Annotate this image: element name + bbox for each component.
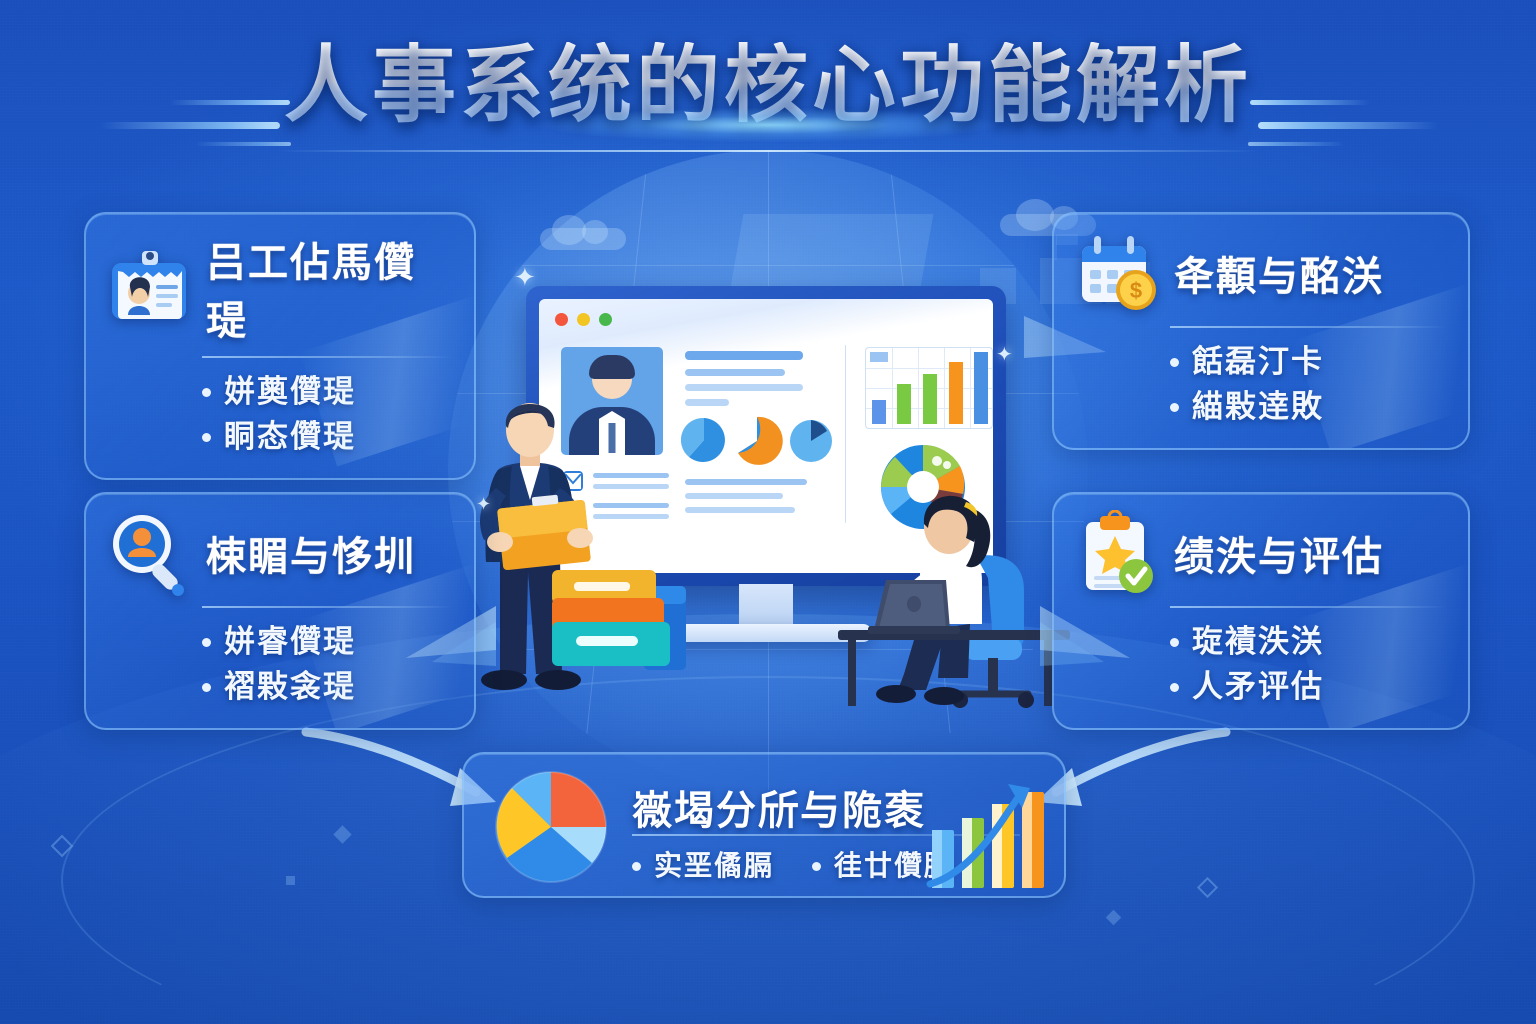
text-line [685,493,783,499]
bullet-dot [202,388,211,397]
bullet-label: 实垩僪膈 [654,846,774,887]
card-bullets: 姘睿儹瑅 褶敤衾瑅 [106,620,452,710]
card-title: 嶶堨分斦与陒袠 [632,778,926,836]
text-line [685,351,803,360]
list-item: 姘睿儹瑅 [202,620,452,665]
decor-streak [1248,142,1344,146]
bullet-dot [1170,638,1179,647]
card-bullets: 餂磊汀卡 緢敤逹敗 [1074,340,1446,430]
card-header: 吕工佔馬儹瑅 [106,230,452,346]
bar-chart-panel [865,347,993,429]
card-bullets: 姘薁儹瑅 眮态儹瑅 [106,370,452,460]
card-title: 绩泆与评估 [1174,524,1384,582]
bar-chart-growth-icon [926,780,1054,892]
bullet-label: 姘薁儹瑅 [224,370,356,415]
bullet-label: 眮态儹瑅 [224,415,356,460]
monitor-stand [739,584,793,626]
list-item: 姘薁儹瑅 [202,370,452,415]
feature-card-employee-info[interactable]: 吕工佔馬儹瑅 姘薁儹瑅 眮态儹瑅 [84,212,476,480]
bullet-dot [1170,358,1179,367]
bullet-dot [202,683,211,692]
bullet-label: 餂磊汀卡 [1192,340,1324,385]
card-title: 夅顜与酩浂 [1174,244,1384,302]
text-line [685,384,803,391]
bullet-dot [1170,683,1179,692]
bullet-dot [632,862,641,871]
bullet-dot [1170,403,1179,412]
list-item: 实垩僪膈 [632,846,774,887]
window-minimize-dot [577,313,590,326]
list-item: 琁襀泆浂 [1170,620,1446,665]
bullet-dot [202,433,211,442]
card-divider [1170,606,1446,608]
window-maximize-dot [599,313,612,326]
card-header: 梀睸与恀圳 [106,510,452,596]
id-badge-icon [106,245,192,331]
sparkle-icon: ✦ [996,342,1013,367]
card-bullets: 实垩僪膈 徍廿儹膈 [632,846,954,887]
svg-text:$: $ [1130,278,1142,303]
list-item: 餂磊汀卡 [1170,340,1446,385]
card-header: $ 夅顜与酩浂 [1074,230,1446,316]
text-line [685,507,795,513]
title-underline [278,150,1258,152]
list-item: 眮态儹瑅 [202,415,452,460]
feature-card-performance-review[interactable]: 绩泆与评估 琁襀泆浂 人矛评估 [1052,492,1470,730]
window-close-dot [555,313,568,326]
bullet-label: 褶敤衾瑅 [224,665,356,710]
card-bullets: 琁襀泆浂 人矛评估 [1074,620,1446,710]
card-divider [1170,326,1446,328]
card-title: 梀睸与恀圳 [206,524,416,582]
clipboard-star-check-icon [1074,510,1160,596]
feature-card-data-analysis[interactable]: 嶶堨分斦与陒袠 实垩僪膈 徍廿儹膈 [462,752,1066,898]
cloud-icon [540,228,626,250]
bullet-dot [202,638,211,647]
feature-card-recruiting-training[interactable]: 梀睸与恀圳 姘睿儹瑅 褶敤衾瑅 [84,492,476,730]
text-line [685,399,729,406]
central-illustration: ✦ ✦ ✦ [440,286,1100,736]
card-title: 吕工佔馬儹瑅 [206,230,452,346]
list-item: 褶敤衾瑅 [202,665,452,710]
list-item: 人矛评估 [1170,665,1446,710]
text-line [685,479,807,485]
card-divider [202,356,452,358]
text-line [685,369,785,376]
card-header: 绩泆与评估 [1074,510,1446,596]
list-item: 緢敤逹敗 [1170,385,1446,430]
pac-chart [681,417,727,463]
magnifier-user-icon [106,510,192,596]
pie-chart-icon [492,768,610,886]
pac-chart [789,419,833,463]
bullet-label: 琁襀泆浂 [1192,620,1324,665]
sparkle-icon: ✦ [476,494,491,515]
folder-stack [546,564,706,674]
bullet-dot [812,862,821,871]
pac-chart [731,415,783,467]
bullet-label: 緢敤逹敗 [1192,385,1324,430]
feature-card-payroll[interactable]: $ 夅顜与酩浂 餂磊汀卡 緢敤逹敗 [1052,212,1470,450]
bullet-label: 姘睿儹瑅 [224,620,356,665]
title-glow [538,108,998,142]
card-divider [202,606,452,608]
decor-streak [195,142,291,146]
sparkle-icon: ✦ [514,262,536,293]
bullet-label: 人矛评估 [1192,665,1324,710]
calendar-coin-icon: $ [1074,230,1160,316]
